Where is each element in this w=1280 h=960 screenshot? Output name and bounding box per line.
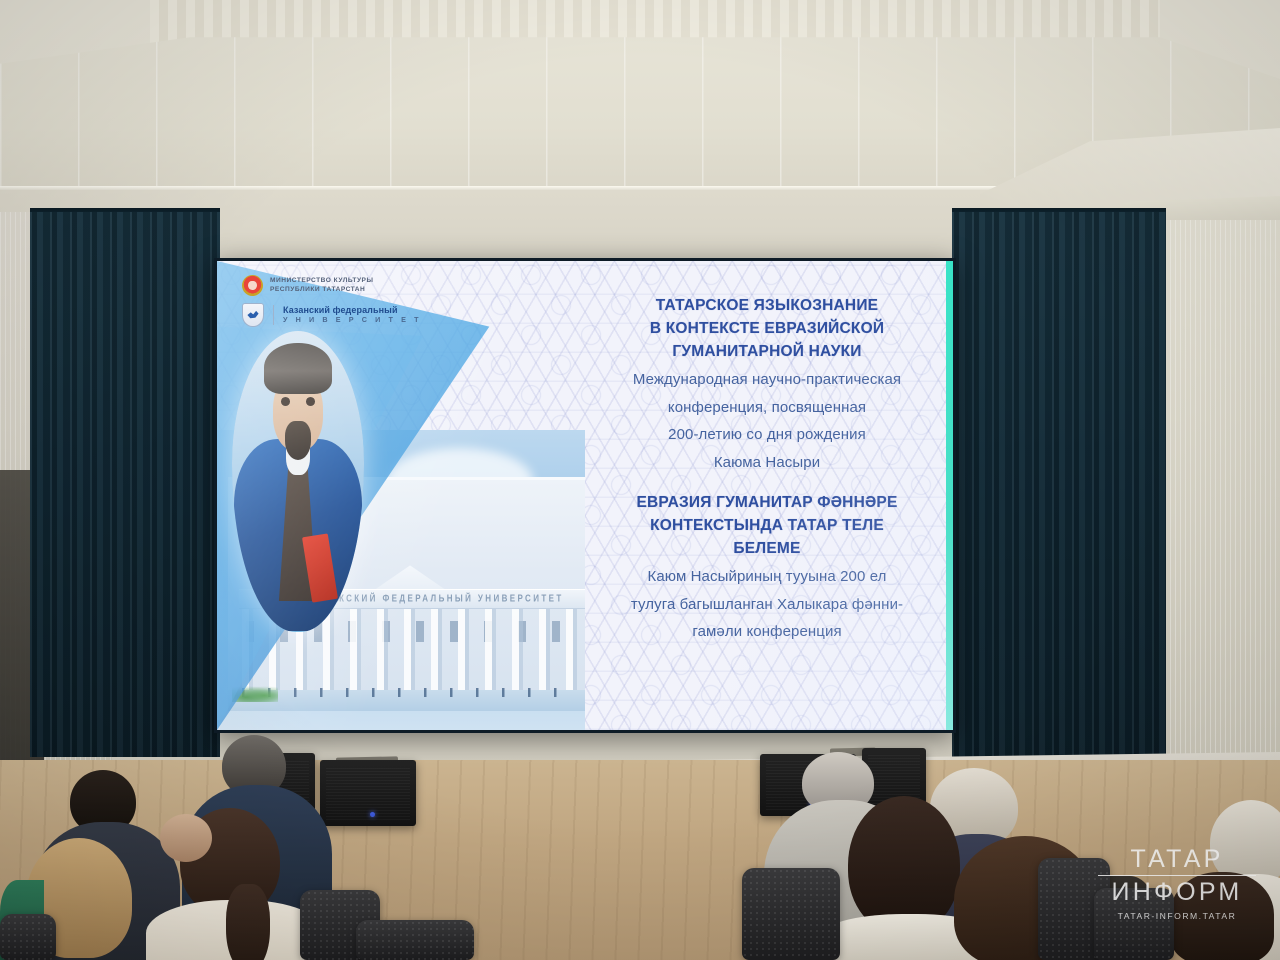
- auditorium-chair: [742, 868, 840, 960]
- ru-heading-line1: ТАТАРСКОЕ ЯЗЫКОЗНАНИЕ: [656, 295, 878, 318]
- audience-ponytail: [226, 884, 270, 960]
- projection-screen-frame: КИЙ ПРИВОЛЖСКИЙ ФЕДЕРАЛЬНЫЙ УНИВЕРСИТЕТ: [214, 258, 956, 733]
- tt-heading-line2: КОНТЕКСТЫНДА ТАТАР ТЕЛЕ: [650, 515, 884, 538]
- auditorium-chair: [1094, 888, 1174, 960]
- teal-accent-strip: [946, 261, 953, 730]
- plaza-bollards: [242, 688, 570, 697]
- conference-hall-photo: КИЙ ПРИВОЛЖСКИЙ ФЕДЕРАЛЬНЫЙ УНИВЕРСИТЕТ: [0, 0, 1280, 960]
- audience-head: [160, 814, 212, 862]
- logo-divider: [273, 305, 274, 325]
- portrait-fur-hat: [264, 343, 333, 394]
- audience-head: [1170, 872, 1274, 960]
- right-stage-curtain: [952, 212, 1166, 757]
- kfu-shield-emblem-icon: [242, 303, 264, 327]
- ministry-logo: МИНИСТЕРСТВО КУЛЬТУРЫ РЕСПУБЛИКИ ТАТАРСТ…: [242, 275, 422, 296]
- ru-body-line2: конференция, посвященная: [668, 397, 866, 420]
- ministry-logo-line1: МИНИСТЕРСТВО КУЛЬТУРЫ: [270, 277, 373, 285]
- ru-body-line1: Международная научно-практическая: [633, 369, 901, 392]
- kayum-nasyri-portrait: [232, 331, 364, 631]
- kfu-logo: Казанский федеральный У Н И В Е Р С И Т …: [242, 303, 422, 327]
- kfu-logo-line2: У Н И В Е Р С И Т Е Т: [283, 316, 422, 325]
- tt-body-line1: Каюм Насыйриның тууына 200 ел: [647, 566, 886, 589]
- tt-heading-line3: БЕЛЕМЕ: [733, 538, 800, 561]
- tt-body-line3: гамәли конференция: [692, 621, 841, 644]
- ministry-logo-line2: РЕСПУБЛИКИ ТАТАРСТАН: [270, 286, 373, 294]
- ru-body-line4: Каюма Насыри: [714, 452, 820, 475]
- ru-heading-line3: ГУМАНИТАРНОЙ НАУКИ: [672, 341, 861, 364]
- pa-speaker: [320, 760, 416, 826]
- tatarstan-ministry-emblem-icon: [242, 275, 263, 296]
- projection-screen: КИЙ ПРИВОЛЖСКИЙ ФЕДЕРАЛЬНЫЙ УНИВЕРСИТЕТ: [217, 261, 953, 730]
- left-stage-curtain: [30, 212, 220, 757]
- tt-heading-line1: ЕВРАЗИЯ ГУМАНИТАР ФӘННӘРЕ: [637, 492, 898, 515]
- audience-member: [160, 808, 220, 868]
- audience-member: [1170, 872, 1280, 960]
- ru-heading-line2: В КОНТЕКСТЕ ЕВРАЗИЙСКОЙ: [650, 318, 884, 341]
- ru-body-line3: 200-летию со дня рождения: [668, 424, 866, 447]
- auditorium-chair: [0, 914, 56, 960]
- slide-text-panel: ТАТАРСКОЕ ЯЗЫКОЗНАНИЕ В КОНТЕКСТЕ ЕВРАЗИ…: [585, 261, 953, 730]
- tt-body-line2: тулуга багышланган Халыкара фәнни-: [631, 594, 903, 617]
- slide-logo-group: МИНИСТЕРСТВО КУЛЬТУРЫ РЕСПУБЛИКИ ТАТАРСТ…: [242, 275, 422, 334]
- auditorium-chair: [356, 920, 474, 960]
